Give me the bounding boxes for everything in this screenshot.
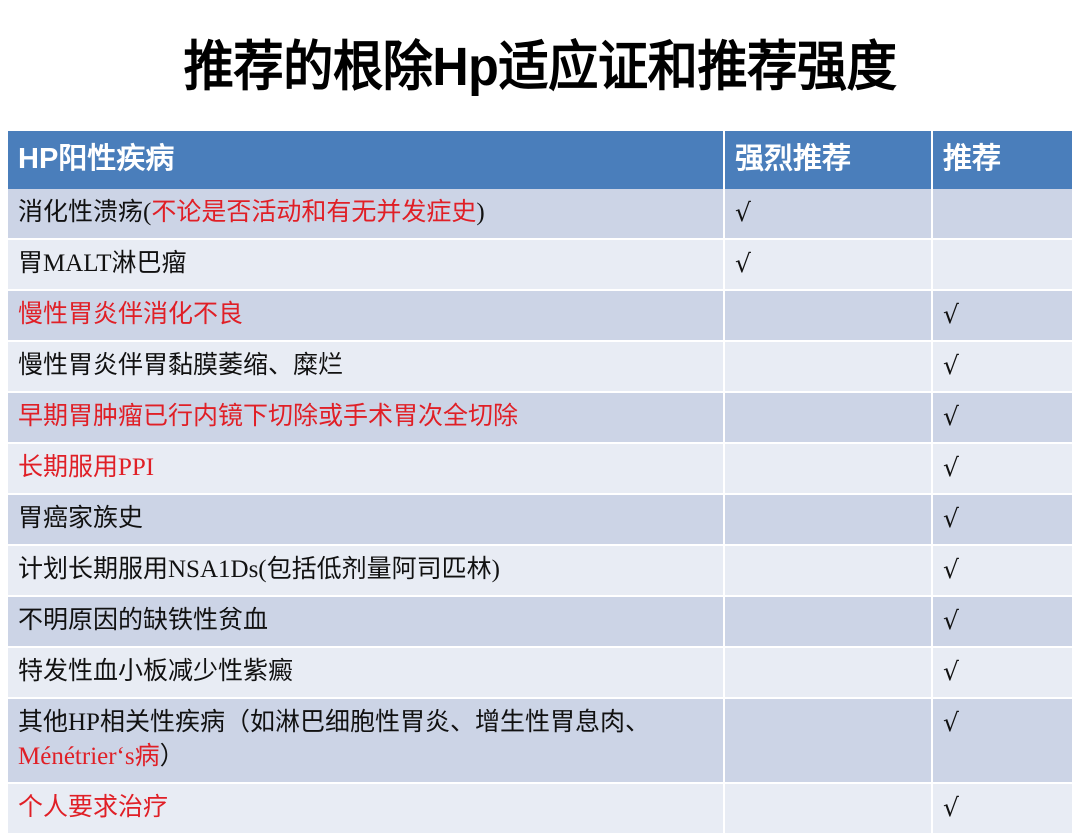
cell-disease: 不明原因的缺铁性贫血 <box>8 596 724 647</box>
disease-text-segment: 慢性胃炎伴消化不良 <box>18 301 243 328</box>
cell-strong-recommendation-mark <box>724 545 932 596</box>
disease-text-segment: 早期胃肿瘤已行内镜下切除或手术胃次全切除 <box>18 403 518 430</box>
indications-table-wrapper: HP阳性疾病 强烈推荐 推荐 消化性溃疡(不论是否活动和有无并发症史)√胃MAL… <box>8 131 1072 835</box>
cell-disease: 计划长期服用NSA1Ds(包括低剂量阿司匹林) <box>8 545 724 596</box>
cell-strong-recommendation-mark <box>724 783 932 834</box>
indications-table: HP阳性疾病 强烈推荐 推荐 消化性溃疡(不论是否活动和有无并发症史)√胃MAL… <box>8 131 1072 835</box>
table-row: 计划长期服用NSA1Ds(包括低剂量阿司匹林)√ <box>8 545 1072 596</box>
cell-disease: 个人要求治疗 <box>8 783 724 834</box>
cell-disease: 胃癌家族史 <box>8 494 724 545</box>
cell-strong-recommendation-mark: √ <box>724 239 932 290</box>
cell-disease: 慢性胃炎伴消化不良 <box>8 290 724 341</box>
cell-recommendation-mark <box>932 239 1072 290</box>
table-row: 长期服用PPI√ <box>8 443 1072 494</box>
table-row: 慢性胃炎伴消化不良√ <box>8 290 1072 341</box>
cell-recommendation-mark: √ <box>932 290 1072 341</box>
cell-strong-recommendation-mark <box>724 698 932 783</box>
disease-text-segment: 长期服用PPI <box>18 454 154 481</box>
table-body: 消化性溃疡(不论是否活动和有无并发症史)√胃MALT淋巴瘤√慢性胃炎伴消化不良√… <box>8 189 1072 834</box>
cell-recommendation-mark: √ <box>932 596 1072 647</box>
disease-text-segment: ） <box>160 743 185 770</box>
table-row: 其他HP相关性疾病（如淋巴细胞性胃炎、增生性胃息肉、Ménétrier‘s病）√ <box>8 698 1072 783</box>
table-row: 个人要求治疗√ <box>8 783 1072 834</box>
table-row: 特发性血小板减少性紫癜√ <box>8 647 1072 698</box>
column-header-strong-recommendation: 强烈推荐 <box>724 131 932 189</box>
cell-recommendation-mark: √ <box>932 545 1072 596</box>
cell-recommendation-mark: √ <box>932 392 1072 443</box>
cell-strong-recommendation-mark <box>724 392 932 443</box>
cell-strong-recommendation-mark <box>724 341 932 392</box>
cell-disease: 胃MALT淋巴瘤 <box>8 239 724 290</box>
cell-disease: 长期服用PPI <box>8 443 724 494</box>
cell-disease: 慢性胃炎伴胃黏膜萎缩、糜烂 <box>8 341 724 392</box>
disease-text-segment: Ménétrier‘s病 <box>18 743 160 770</box>
table-header-row: HP阳性疾病 强烈推荐 推荐 <box>8 131 1072 189</box>
table-row: 消化性溃疡(不论是否活动和有无并发症史)√ <box>8 189 1072 239</box>
cell-recommendation-mark <box>932 189 1072 239</box>
table-row: 胃癌家族史√ <box>8 494 1072 545</box>
disease-text-segment: 胃MALT淋巴瘤 <box>18 250 187 277</box>
disease-text-segment: 其他HP相关性疾病（如淋巴细胞性胃炎、增生性胃息肉、 <box>18 709 650 736</box>
table-row: 早期胃肿瘤已行内镜下切除或手术胃次全切除√ <box>8 392 1072 443</box>
disease-text-segment: 不论是否活动和有无并发症史 <box>151 199 476 226</box>
cell-recommendation-mark: √ <box>932 341 1072 392</box>
cell-recommendation-mark: √ <box>932 698 1072 783</box>
cell-strong-recommendation-mark <box>724 443 932 494</box>
disease-text-segment: 计划长期服用NSA1Ds(包括低剂量阿司匹林) <box>18 556 500 583</box>
disease-text-segment: 不明原因的缺铁性贫血 <box>18 607 268 634</box>
cell-strong-recommendation-mark <box>724 596 932 647</box>
cell-recommendation-mark: √ <box>932 647 1072 698</box>
cell-strong-recommendation-mark <box>724 494 932 545</box>
table-row: 胃MALT淋巴瘤√ <box>8 239 1072 290</box>
cell-disease: 早期胃肿瘤已行内镜下切除或手术胃次全切除 <box>8 392 724 443</box>
disease-text-segment: 特发性血小板减少性紫癜 <box>18 658 293 685</box>
cell-disease: 其他HP相关性疾病（如淋巴细胞性胃炎、增生性胃息肉、Ménétrier‘s病） <box>8 698 724 783</box>
column-header-disease: HP阳性疾病 <box>8 131 724 189</box>
cell-recommendation-mark: √ <box>932 443 1072 494</box>
cell-strong-recommendation-mark: √ <box>724 189 932 239</box>
disease-text-segment: 胃癌家族史 <box>18 505 143 532</box>
cell-recommendation-mark: √ <box>932 494 1072 545</box>
column-header-recommendation: 推荐 <box>932 131 1072 189</box>
cell-disease: 特发性血小板减少性紫癜 <box>8 647 724 698</box>
disease-text-segment: ) <box>476 199 484 226</box>
disease-text-segment: 慢性胃炎伴胃黏膜萎缩、糜烂 <box>18 352 343 379</box>
table-row: 不明原因的缺铁性贫血√ <box>8 596 1072 647</box>
slide-root: 推荐的根除Hp适应证和推荐强度 HP阳性疾病 强烈推荐 推荐 消化性溃疡(不论是… <box>0 0 1080 810</box>
page-title: 推荐的根除Hp适应证和推荐强度 <box>38 34 1042 100</box>
disease-text-segment: 个人要求治疗 <box>18 794 168 821</box>
table-header: HP阳性疾病 强烈推荐 推荐 <box>8 131 1072 189</box>
cell-strong-recommendation-mark <box>724 647 932 698</box>
table-row: 慢性胃炎伴胃黏膜萎缩、糜烂√ <box>8 341 1072 392</box>
disease-text-segment: 消化性溃疡( <box>18 199 151 226</box>
cell-disease: 消化性溃疡(不论是否活动和有无并发症史) <box>8 189 724 239</box>
cell-strong-recommendation-mark <box>724 290 932 341</box>
cell-recommendation-mark: √ <box>932 783 1072 834</box>
